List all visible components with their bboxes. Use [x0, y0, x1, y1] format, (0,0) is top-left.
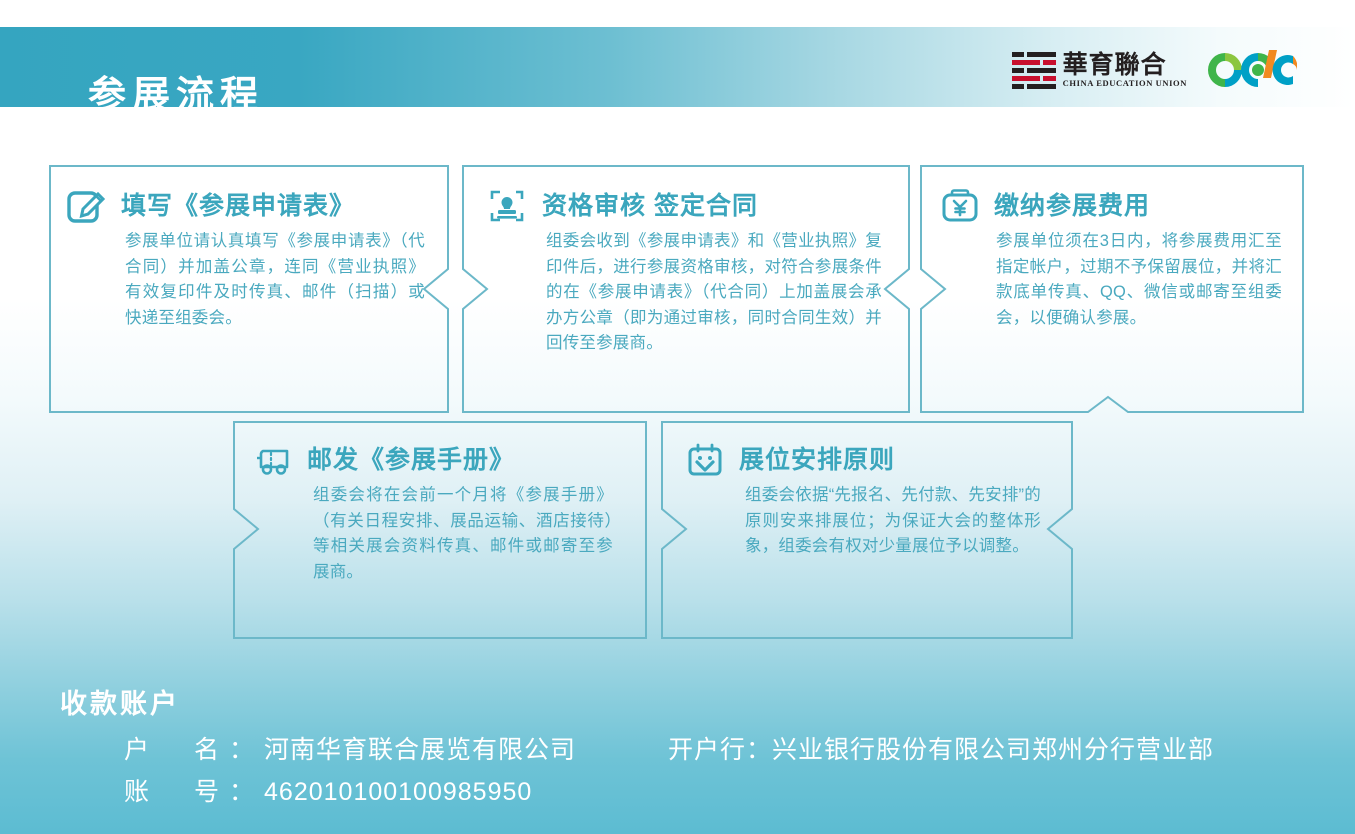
- step-card-1: 填写《参展申请表》 参展单位请认真填写《参展申请表》（代合同）并加盖公章，连同《…: [49, 165, 449, 413]
- account-number-label: 账 号：: [124, 778, 264, 806]
- step-body-3: 参展单位须在3日内，将参展费用汇至指定帐户，过期不予保留展位，并将汇款底单传真、…: [996, 229, 1282, 331]
- step-title-3: 缴纳参展费用: [994, 192, 1150, 220]
- money-bag-yuan-icon: [940, 187, 980, 225]
- account-name-row: 户 名：河南华育联合展览有限公司: [124, 730, 576, 766]
- step-card-2: 资格审核 签定合同 组委会收到《参展申请表》和《营业执照》复印件后，进行参展资格…: [462, 165, 910, 413]
- account-number-value: 462010100100985950: [264, 778, 532, 806]
- bank-value: 兴业银行股份有限公司郑州分行营业部: [772, 736, 1214, 764]
- step-card-5: 展位安排原则 组委会依据“先报名、先付款、先安排”的原则安来排展位；为保证大会的…: [661, 421, 1073, 639]
- edit-document-icon: [67, 187, 107, 225]
- delivery-truck-icon: [253, 441, 293, 479]
- step-card-3: 缴纳参展费用 参展单位须在3日内，将参展费用汇至指定帐户，过期不予保留展位，并将…: [920, 165, 1304, 413]
- footer-title: 收款账户: [60, 682, 180, 721]
- step-title-2: 资格审核 签定合同: [542, 192, 758, 220]
- page-title: 参展流程: [88, 77, 264, 115]
- bank-label: 开户行：: [668, 736, 772, 764]
- account-name-label: 户 名：: [124, 736, 264, 764]
- logo-cn-name: 華育聯合: [1063, 51, 1187, 78]
- step-body-1: 参展单位请认真填写《参展申请表》（代合同）并加盖公章，连同《营业执照》有效复印件…: [125, 229, 425, 331]
- step-body-5: 组委会依据“先报名、先付款、先安排”的原则安来排展位；为保证大会的整体形象，组委…: [745, 483, 1041, 560]
- cdc-logo: [1201, 48, 1297, 92]
- step-body-4: 组委会将在会前一个月将《参展手册》（有关日程安排、展品运输、酒店接待）等相关展会…: [313, 483, 613, 585]
- step-body-2: 组委会收到《参展申请表》和《营业执照》复印件后，进行参展资格审核，对符合参展条件…: [546, 229, 882, 357]
- stamp-seal-icon: [488, 187, 528, 225]
- step-card-4: 邮发《参展手册》 组委会将在会前一个月将《参展手册》（有关日程安排、展品运输、酒…: [233, 421, 647, 639]
- step-title-5: 展位安排原则: [739, 446, 895, 474]
- logo-en-name: CHINA EDUCATION UNION: [1063, 78, 1187, 89]
- account-number-row: 账 号：462010100100985950: [124, 772, 532, 808]
- logo-bars-icon: [1012, 52, 1056, 89]
- poster-page: 参展流程 華育聯合 CHINA EDUCATION UNION: [0, 0, 1355, 834]
- calendar-check-icon: [685, 441, 725, 479]
- step-title-1: 填写《参展申请表》: [121, 192, 355, 220]
- account-name-value: 河南华育联合展览有限公司: [264, 736, 576, 764]
- bank-row: 开户行：兴业银行股份有限公司郑州分行营业部: [668, 730, 1214, 766]
- china-education-union-logo: 華育聯合 CHINA EDUCATION UNION: [1012, 51, 1187, 89]
- footer-account-block: 收款账户 户 名：河南华育联合展览有限公司 账 号：46201010010098…: [0, 664, 1355, 834]
- step-title-4: 邮发《参展手册》: [307, 446, 515, 474]
- logo-group: 華育聯合 CHINA EDUCATION UNION: [1012, 48, 1297, 92]
